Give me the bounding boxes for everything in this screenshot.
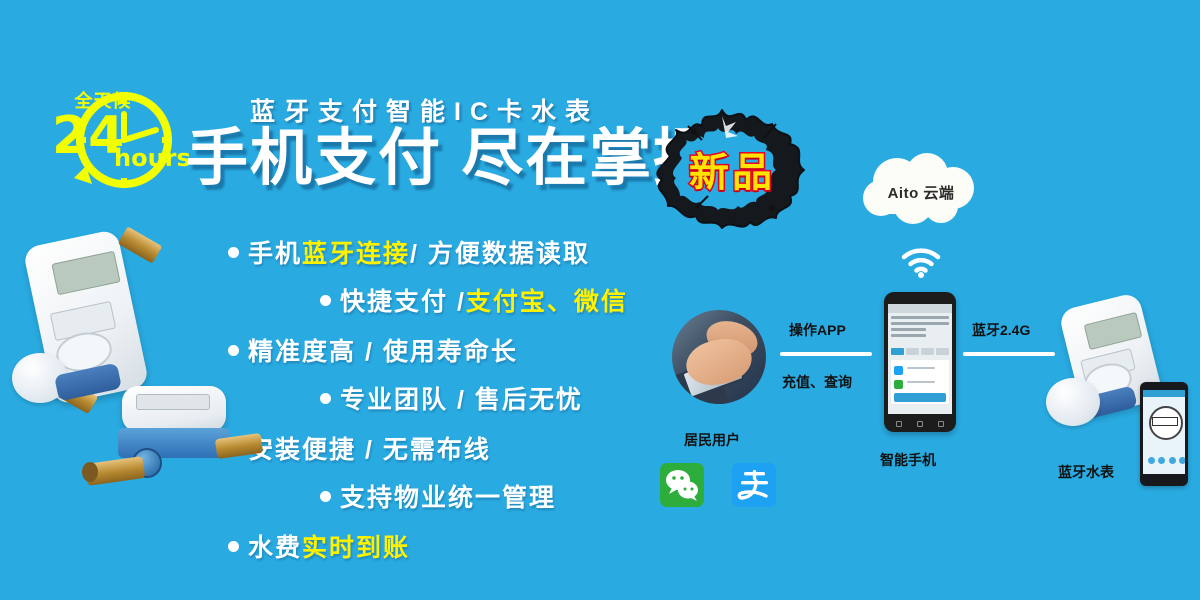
- node-label-smartphone: 智能手机: [880, 450, 936, 470]
- node-label-resident: 居民用户: [684, 430, 740, 450]
- row-text: [907, 367, 935, 369]
- phone-nav-bar: [888, 420, 952, 428]
- bullet-dot-icon: [228, 247, 239, 258]
- recents-icon: [938, 421, 944, 427]
- info-row: [891, 316, 949, 319]
- alipay-row-icon: [894, 366, 903, 375]
- tab-active: [891, 348, 904, 355]
- confirm-pay-button[interactable]: [894, 393, 946, 402]
- feature-text-before: 快捷支付 /: [340, 282, 466, 318]
- cloud-label: Aito 云端: [855, 182, 987, 203]
- meter-app-screen: [1143, 390, 1185, 474]
- new-product-label: 新品: [652, 140, 812, 198]
- promo-banner: 全天候 24 hours 蓝牙支付智能IC卡水表 手机支付 尽在掌握 新品 手机…: [0, 0, 1200, 600]
- app-button[interactable]: [1179, 457, 1185, 464]
- banner-subtitle: 蓝牙支付智能IC卡水表: [250, 92, 599, 128]
- row-text: [907, 381, 935, 383]
- app-header-bar: [1143, 390, 1185, 397]
- feature-text-before: 水费: [248, 528, 302, 564]
- list-item: 快捷支付 / 支付宝、微信: [228, 282, 698, 318]
- app-button[interactable]: [1158, 457, 1165, 464]
- cloud-node: Aito 云端: [855, 152, 987, 234]
- list-item: 水费 实时到账: [228, 528, 698, 564]
- resident-user-photo: [672, 310, 766, 404]
- feature-highlight: 蓝牙连接: [302, 234, 410, 270]
- info-row: [891, 322, 949, 325]
- list-item: 专业团队 / 售后无忧: [228, 380, 698, 416]
- app-bottom-buttons: [1146, 457, 1185, 464]
- bullet-dot-icon: [228, 345, 239, 356]
- list-item: 支持物业统一管理: [228, 478, 698, 514]
- app-button[interactable]: [1148, 457, 1155, 464]
- bullet-dot-icon: [320, 491, 331, 502]
- tab: [921, 348, 934, 355]
- wechat-row-icon: [894, 380, 903, 389]
- phone-tab-row: [891, 348, 949, 355]
- feature-list: 手机 蓝牙连接 / 方便数据读取 快捷支付 / 支付宝、微信 精准度高 / 使用…: [228, 234, 698, 564]
- list-item: 手机 蓝牙连接 / 方便数据读取: [228, 234, 698, 270]
- list-item: 精准度高 / 使用寿命长: [228, 332, 698, 368]
- info-row: [891, 328, 926, 331]
- wechat-pay-icon[interactable]: [660, 463, 704, 507]
- tab: [906, 348, 919, 355]
- link-label-above-1: 操作APP: [789, 320, 846, 340]
- bullet-dot-icon: [320, 393, 331, 404]
- wifi-icon: [900, 246, 942, 278]
- link-label-above-2: 蓝牙2.4G: [972, 320, 1030, 340]
- feature-text-before: 手机: [248, 234, 302, 270]
- phone-screen: [888, 304, 952, 414]
- feature-text-before: 精准度高 / 使用寿命长: [248, 332, 518, 368]
- tab: [936, 348, 949, 355]
- feature-highlight: 实时到账: [302, 528, 410, 564]
- connector-line-1: [780, 352, 872, 356]
- smartphone-node: [884, 292, 956, 432]
- badge-unit: hours: [114, 146, 191, 170]
- feature-text-before: 安装便捷 / 无需布线: [248, 430, 491, 466]
- meter-app-phone: [1140, 382, 1188, 486]
- list-item: 安装便捷 / 无需布线: [228, 430, 698, 466]
- feature-text-before: 支持物业统一管理: [340, 478, 556, 514]
- node-label-bluetooth-meter: 蓝牙水表: [1058, 462, 1114, 482]
- meter-digits: [1152, 417, 1178, 426]
- feature-text-after: / 方便数据读取: [410, 234, 590, 270]
- home-icon: [917, 421, 923, 427]
- new-product-badge: 新品: [652, 96, 812, 236]
- app-button[interactable]: [1169, 457, 1176, 464]
- all-weather-24h-badge: 全天候 24 hours: [52, 84, 184, 196]
- feature-text-before: 专业团队 / 售后无忧: [340, 380, 583, 416]
- phone-info-rows: [891, 316, 949, 340]
- feature-highlight: 支付宝、微信: [466, 282, 628, 318]
- banner-main-title: 手机支付 尽在掌握: [186, 124, 717, 194]
- bullet-dot-icon: [320, 295, 331, 306]
- info-row: [891, 334, 926, 337]
- alipay-icon[interactable]: [732, 463, 776, 507]
- connector-line-2: [963, 352, 1055, 356]
- phone-status-bar: [888, 304, 952, 313]
- bullet-dot-icon: [228, 541, 239, 552]
- link-label-below-1: 充值、查询: [782, 372, 852, 392]
- valve-control-water-meter-image: [78, 378, 263, 508]
- back-icon: [896, 421, 902, 427]
